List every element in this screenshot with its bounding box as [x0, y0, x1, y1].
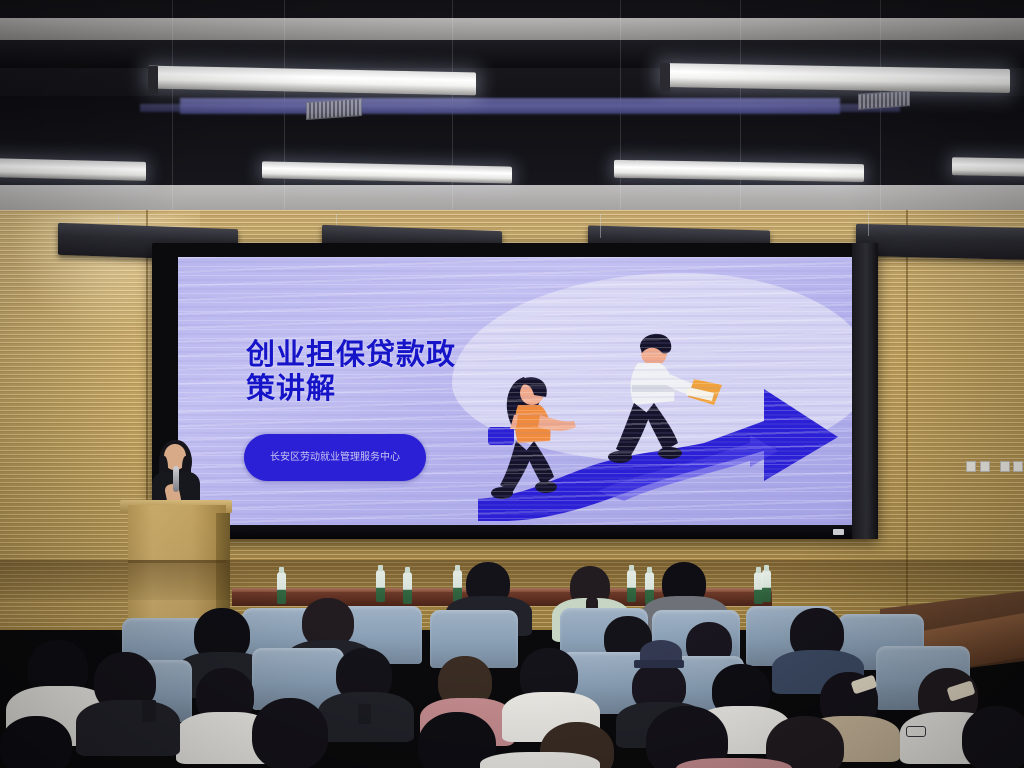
water-bottle: [453, 570, 462, 602]
ceiling-band-upper: [0, 18, 1024, 40]
screen-bottom-frame: [178, 525, 852, 539]
ceiling-light-tube: [660, 63, 1010, 93]
attendee-shoulders: [76, 700, 180, 756]
screen-bezel-right: [852, 243, 878, 539]
microphone-icon: [173, 466, 179, 492]
fixture-rod: [600, 214, 601, 238]
led-display-screen: 创业担保贷款政 策讲解 长安区劳动就业管理服务中心: [152, 243, 878, 539]
ceiling-light-cap: [660, 63, 670, 92]
attendee-head: [962, 706, 1024, 768]
ceiling: [0, 0, 1024, 236]
fixture-rod: [868, 212, 869, 236]
attendee-shoulders: [676, 758, 792, 768]
slide-organization-badge: 长安区劳动就业管理服务中心: [244, 434, 426, 481]
ceiling-cove-glow-2: [140, 104, 900, 112]
auditorium-photo: 创业担保贷款政 策讲解 长安区劳动就业管理服务中心: [0, 0, 1024, 768]
attendee-head: [252, 698, 328, 768]
smartphone[interactable]: [142, 700, 156, 722]
ceiling-light-tube: [0, 158, 146, 181]
ceiling-seam: [620, 0, 621, 236]
wall-switch-plate[interactable]: [980, 461, 990, 472]
wall-switch-plate[interactable]: [1013, 461, 1023, 472]
water-bottle: [376, 570, 385, 602]
ceiling-seam: [740, 0, 741, 236]
slide-title-line-2: 策讲解: [246, 371, 556, 405]
water-bottle: [277, 572, 286, 604]
ceiling-seam: [880, 0, 881, 236]
smartphone[interactable]: [358, 704, 371, 724]
cap-brim: [634, 660, 684, 668]
ceiling-light-tube: [952, 157, 1024, 177]
ceiling-dark-strip-1: [0, 40, 1024, 68]
hanging-light-fixture: [856, 224, 1024, 260]
eyeglasses: [906, 726, 926, 737]
slide-canvas: 创业担保贷款政 策讲解 长安区劳动就业管理服务中心: [178, 257, 852, 525]
screen-status-led: [833, 529, 844, 535]
slide-title-line-1: 创业担保贷款政: [246, 337, 556, 371]
wall-switch-plate[interactable]: [1000, 461, 1010, 472]
slide-organization-label: 长安区劳动就业管理服务中心: [260, 451, 410, 465]
water-bottle: [762, 570, 771, 602]
water-bottle: [627, 570, 636, 602]
wall-switch-plate[interactable]: [966, 461, 976, 472]
ceiling-light-tube: [148, 66, 476, 96]
ceiling-seam: [284, 0, 285, 236]
ceiling-light-cap: [148, 66, 158, 94]
attendee-shoulders: [480, 752, 600, 768]
attendee-head: [0, 716, 72, 768]
slide-title: 创业担保贷款政 策讲解: [246, 337, 556, 405]
ceiling-seam: [452, 0, 453, 236]
water-bottle: [403, 572, 412, 604]
ceiling-seam: [172, 0, 173, 236]
water-bottle: [645, 572, 654, 604]
